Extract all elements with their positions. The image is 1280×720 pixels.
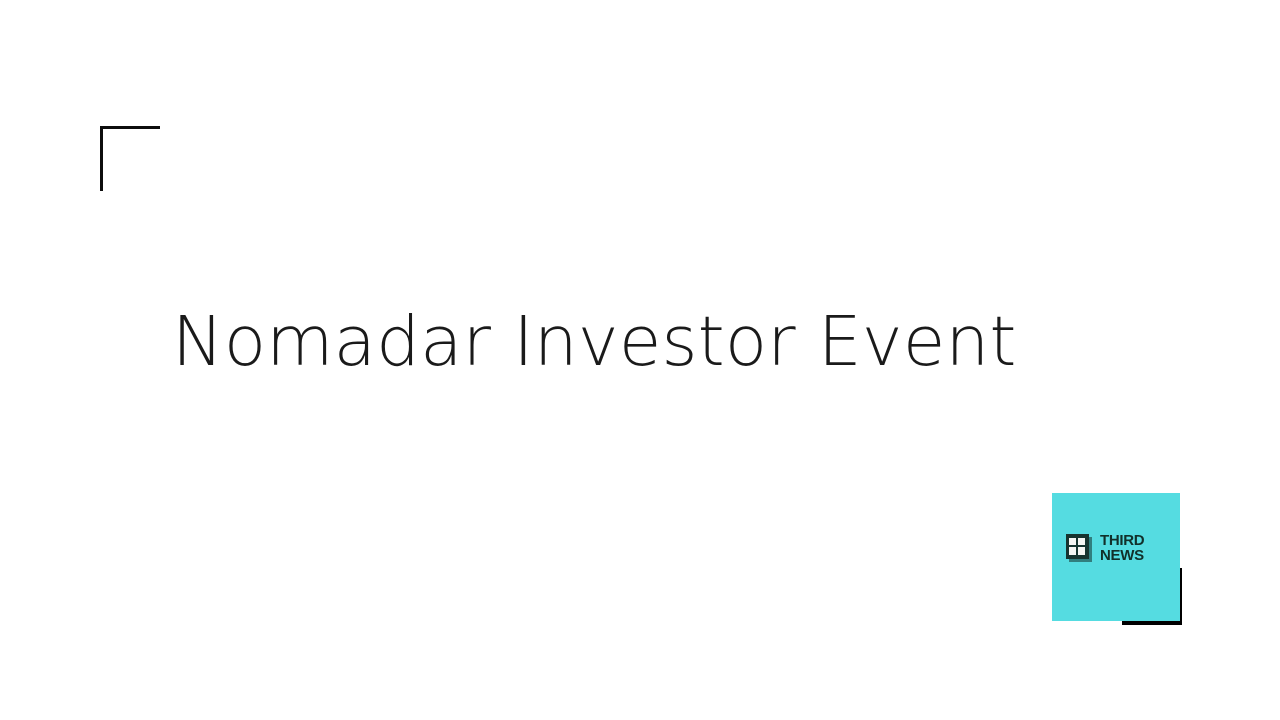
newspaper-grid-pane-1 — [1069, 538, 1076, 546]
page-title: Nomadar Investor Event — [172, 300, 1072, 384]
logo-wordmark: THIRD NEWS — [1100, 533, 1144, 563]
newspaper-grid-pane-3 — [1069, 547, 1076, 555]
logo-lockup: THIRD NEWS — [1066, 533, 1144, 563]
newspaper-grid-icon — [1066, 534, 1093, 563]
newspaper-grid-icon-panes — [1069, 538, 1085, 555]
top-left-corner-bracket-decoration — [100, 126, 160, 191]
newspaper-grid-pane-4 — [1078, 547, 1085, 555]
newspaper-grid-pane-2 — [1078, 538, 1085, 546]
logo-wordmark-line-2: NEWS — [1100, 548, 1144, 563]
logo-wordmark-line-1: THIRD — [1100, 533, 1144, 548]
presentation-slide: Nomadar Investor Event THIRD NEWS — [0, 0, 1280, 720]
third-news-logo-badge: THIRD NEWS — [1052, 493, 1180, 621]
